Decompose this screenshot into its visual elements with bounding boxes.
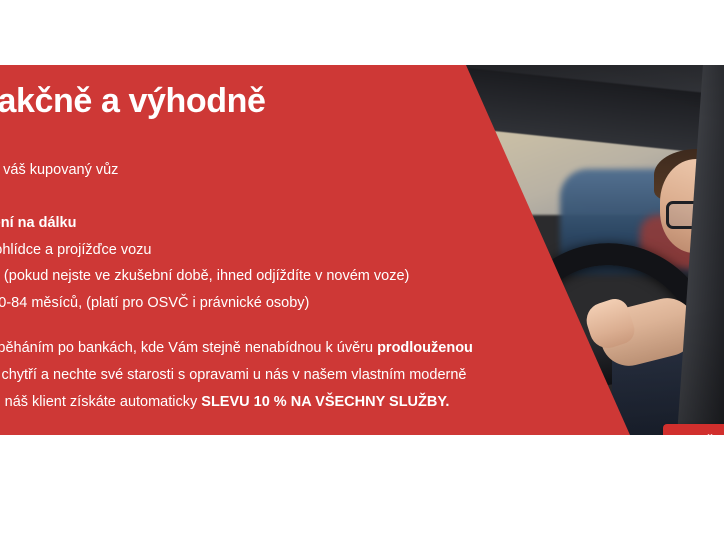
banner-copy: átky akčně a výhodně ená záruka na váš k… [0, 65, 560, 435]
page-canvas: átky akčně a výhodně ená záruka na váš k… [0, 0, 724, 560]
list-item: ená záruka na váš kupovaný vůz [0, 157, 564, 184]
paragraph-text: ocenný čas běháním po bankách, kde Vám s… [0, 340, 377, 356]
list-item: é předschválení na dálku [0, 210, 564, 237]
promo-banner: átky akčně a výhodně ená záruka na váš k… [0, 65, 724, 435]
list-item: tek může být 10-84 měsíců, (platí pro OS… [0, 290, 564, 317]
benefit-text: louvy až po prohlídce a projížďce vozu [0, 242, 152, 258]
paragraph-line: ocenný čas běháním po bankách, kde Vám s… [0, 335, 580, 362]
paragraph-text: isu, kde jako náš klient získáte automat… [0, 394, 201, 410]
list-item: louvy až po prohlídce a projížďce vozu [0, 237, 564, 264]
list-item: e dva doklady (pokud nejste ve zkušební … [0, 263, 564, 290]
benefit-text: na váš kupovaný vůz [0, 162, 118, 178]
banner-headline: átky akčně a výhodně [0, 84, 266, 118]
paragraph-emphasis: SLEVU 10 % NA VŠECHNY SLUŽBY. [201, 394, 449, 410]
paragraph-line: isu, kde jako náš klient získáte automat… [0, 389, 580, 416]
paragraph-line: vozu! Buďte chytří a nechte své starosti… [0, 362, 580, 389]
cta-button[interactable]: OZVĚTE [663, 424, 724, 435]
benefit-text: tek může být 10-84 měsíců, (platí pro OS… [0, 295, 309, 311]
benefit-emphasis: é předschválení na dálku [0, 215, 76, 231]
list-item: od 0 % [0, 184, 564, 211]
paragraph-emphasis: prodlouženou [377, 340, 473, 356]
paragraph-text: vozu! Buďte chytří a nechte své starosti… [0, 367, 466, 383]
benefit-text: (pokud nejste ve zkušební době, ihned od… [0, 268, 409, 284]
banner-paragraph: ocenný čas běháním po bankách, kde Vám s… [0, 335, 580, 416]
benefit-list: ená záruka na váš kupovaný vůz od 0 % é … [0, 157, 564, 316]
